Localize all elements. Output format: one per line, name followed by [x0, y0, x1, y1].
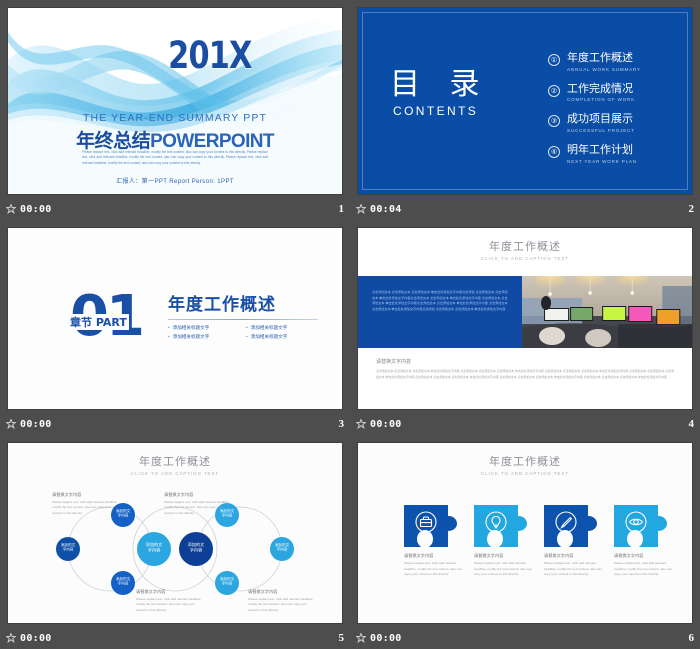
slide-6-header: 年度工作概述 CLICK TO ADD CAPTION TEXT: [358, 443, 692, 476]
slide-2-title-block: 目 录 CONTENTS: [390, 70, 490, 118]
puzzle-piece-4[interactable]: [614, 505, 658, 547]
puzzle-title-1: 请替换文字内容: [404, 553, 464, 559]
chapter-bullet-1: 添加相关标题文字: [168, 325, 240, 331]
svg-text:添加的文: 添加的文: [116, 576, 131, 581]
slide-transition-icon[interactable]: [6, 419, 16, 429]
svg-text:字内容: 字内容: [190, 547, 203, 554]
slide-cell-5[interactable]: 年度工作概述 CLICK TO ADD CAPTION TEXT 添加的文 字内…: [0, 435, 350, 649]
puzzle-body-2: Please replace text, click add relevant …: [474, 561, 534, 578]
slide-1-blurb: Please replace text, click add relevant …: [82, 150, 268, 166]
puzzle-piece-1[interactable]: [404, 505, 448, 547]
piece-knob: [510, 516, 527, 531]
slide-4-page-number: 4: [689, 418, 695, 430]
svg-text:字内容: 字内容: [222, 581, 233, 586]
slide-1-cn-title: 年终总结: [76, 130, 150, 152]
slide-4-photo[interactable]: 年度工作概述 CLICK TO ADD CAPTION TEXT 点击添加文本 …: [358, 228, 692, 409]
agenda-en-1: ANNUAL WORK SUMMARY: [567, 67, 641, 72]
slide-2-en-title: CONTENTS: [390, 104, 490, 118]
puzzle-col-2[interactable]: 请替换文字内容 Please replace text, click add r…: [474, 505, 534, 578]
slide-1-en-title: POWERPOINT: [150, 131, 274, 152]
slide-transition-icon[interactable]: [356, 204, 366, 214]
note-1-body: Please replace text, click add relevant …: [52, 500, 118, 516]
slide-6-cn-title: 年度工作概述: [358, 453, 692, 469]
puzzle-col-3[interactable]: 请替换文字内容 Please replace text, click add r…: [544, 505, 604, 578]
svg-text:字内容: 字内容: [63, 547, 74, 552]
slide-5-time: 00:00: [20, 633, 52, 644]
slide-cell-6[interactable]: 年度工作概述 CLICK TO ADD CAPTION TEXT: [350, 435, 700, 649]
note-1-title: 请替换文字内容: [52, 492, 118, 498]
note-4: 请替换文字内容 Please replace text, click add r…: [248, 589, 314, 613]
svg-text:添加的文: 添加的文: [61, 542, 76, 547]
slide-5-page-number: 5: [339, 632, 345, 644]
puzzle-caption-3: 请替换文字内容 Please replace text, click add r…: [544, 553, 604, 578]
agenda-item-1[interactable]: ① 年度工作概述 ANNUAL WORK SUMMARY: [548, 52, 641, 72]
svg-text:添加的文: 添加的文: [116, 508, 131, 513]
slide-1-en-subtitle: THE YEAR-END SUMMARY PPT: [8, 112, 342, 124]
slide-4-cn-title: 年度工作概述: [358, 238, 692, 254]
slide-transition-icon[interactable]: [6, 204, 16, 214]
puzzle-caption-4: 请替换文字内容 Please replace text, click add r…: [614, 553, 674, 578]
slide-3-page-number: 3: [339, 418, 345, 430]
chapter-ribbon-label: 章节 PART: [68, 314, 129, 330]
slide-2-page-number: 2: [689, 203, 695, 215]
piece-knob: [580, 516, 597, 531]
agenda-number-icon: ④: [548, 146, 560, 158]
agenda-text: 工作完成情况 COMPLETION OF WORK: [567, 83, 635, 103]
slide-4-band: 点击添加文本 点击添加文本 点击添加文本 单击此处添加文字内容点击添加 点击添加…: [358, 276, 692, 348]
chapter-heading: 年度工作概述: [168, 296, 318, 315]
slide-1-reporter: 汇报人：第一PPT Report Person: 1PPT: [8, 176, 342, 185]
puzzle-body-3: Please replace text, click add relevant …: [544, 561, 604, 578]
slide-1-title[interactable]: 201X THE YEAR-END SUMMARY PPT 年终总结POWERP…: [8, 8, 342, 194]
svg-text:字内容: 字内容: [277, 547, 288, 552]
svg-text:添加的文: 添加的文: [275, 542, 290, 547]
puzzle-row: 请替换文字内容 Please replace text, click add r…: [404, 505, 674, 578]
note-4-body: Please replace text, click add relevant …: [248, 597, 314, 613]
note-3-title: 请替换文字内容: [136, 589, 202, 595]
agenda-cn-4: 明年工作计划: [567, 144, 637, 157]
puzzle-body-1: Please replace text, click add relevant …: [404, 561, 464, 578]
briefcase-icon: [414, 510, 438, 534]
slide-1-title-line: 年终总结POWERPOINT: [8, 126, 342, 153]
note-2: 请替换文字内容 Please replace text, click add r…: [164, 492, 230, 516]
agenda-cn-1: 年度工作概述: [567, 52, 641, 65]
slide-6-page-number: 6: [689, 632, 695, 644]
agenda-cn-2: 工作完成情况: [567, 83, 635, 96]
slide-4-caption-title: 请替换文字内容: [376, 358, 674, 365]
agenda-item-4[interactable]: ④ 明年工作计划 NEXT YEAR WORK PLAN: [548, 144, 641, 164]
slide-transition-icon[interactable]: [356, 633, 366, 643]
slide-6-footer: 00:00 6: [350, 627, 700, 649]
slide-3-footer: 00:00 3: [0, 413, 350, 435]
puzzle-body-4: Please replace text, click add relevant …: [614, 561, 674, 578]
piece-knob: [650, 516, 667, 531]
svg-text:字内容: 字内容: [118, 581, 129, 586]
slide-3-chapter[interactable]: 01 章节 PART 年度工作概述 添加相关标题文字 添加相关标题文字 添加相关…: [8, 228, 342, 409]
divider: [168, 319, 318, 320]
agenda-en-3: SUCCESSFUL PROJECT: [567, 128, 635, 133]
puzzle-title-2: 请替换文字内容: [474, 553, 534, 559]
slide-4-caption-body: 点击添加文本 点击添加文本 点击添加文本 单击此处添加文字内容 点击添加文本 点…: [376, 369, 674, 380]
slide-cell-3[interactable]: 01 章节 PART 年度工作概述 添加相关标题文字 添加相关标题文字 添加相关…: [0, 220, 350, 435]
slide-thumbnail-grid: 201X THE YEAR-END SUMMARY PPT 年终总结POWERP…: [0, 0, 700, 649]
agenda-number-icon: ②: [548, 85, 560, 97]
svg-text:添加的文: 添加的文: [220, 576, 235, 581]
slide-4-header: 年度工作概述 CLICK TO ADD CAPTION TEXT: [358, 228, 692, 261]
agenda-en-4: NEXT YEAR WORK PLAN: [567, 159, 637, 164]
slide-5-circles[interactable]: 年度工作概述 CLICK TO ADD CAPTION TEXT 添加的文 字内…: [8, 443, 342, 623]
puzzle-title-3: 请替换文字内容: [544, 553, 604, 559]
puzzle-piece-3[interactable]: [544, 505, 588, 547]
puzzle-caption-2: 请替换文字内容 Please replace text, click add r…: [474, 553, 534, 578]
agenda-number-icon: ①: [548, 54, 560, 66]
slide-transition-icon[interactable]: [6, 633, 16, 643]
slide-1-footer: 00:00 1: [0, 198, 350, 220]
slide-2-agenda-list: ① 年度工作概述 ANNUAL WORK SUMMARY ② 工作完成情况 CO…: [548, 52, 641, 175]
piece-knob: [440, 516, 457, 531]
slide-3-time: 00:00: [20, 419, 52, 430]
agenda-en-2: COMPLETION OF WORK: [567, 97, 635, 102]
chapter-number-block: 01 章节 PART: [70, 290, 142, 343]
slide-1-page-number: 1: [339, 203, 345, 215]
slide-4-caption: 请替换文字内容 点击添加文本 点击添加文本 点击添加文本 单击此处添加文字内容 …: [376, 358, 674, 380]
agenda-item-2[interactable]: ② 工作完成情况 COMPLETION OF WORK: [548, 83, 641, 103]
chapter-heading-block: 年度工作概述 添加相关标题文字 添加相关标题文字 添加相关标题文字 添加相关标题…: [168, 296, 318, 340]
svg-text:字内容: 字内容: [118, 513, 129, 518]
chapter-bullet-3: 添加相关标题文字: [168, 334, 240, 340]
chapter-bullet-2: 添加相关标题文字: [246, 325, 318, 331]
slide-6-en-title: CLICK TO ADD CAPTION TEXT: [358, 471, 692, 476]
slide-transition-icon[interactable]: [356, 419, 366, 429]
eye-icon: [624, 510, 648, 534]
note-1: 请替换文字内容 Please replace text, click add r…: [52, 492, 118, 516]
slide-6-time: 00:00: [370, 633, 402, 644]
note-4-title: 请替换文字内容: [248, 589, 314, 595]
note-2-body: Please replace text, click add relevant …: [164, 500, 230, 516]
note-2-title: 请替换文字内容: [164, 492, 230, 498]
puzzle-title-4: 请替换文字内容: [614, 553, 674, 559]
slide-2-time: 00:04: [370, 204, 402, 215]
lightbulb-icon: [484, 510, 508, 534]
slide-2-cn-title: 目 录: [390, 70, 490, 100]
agenda-number-icon: ③: [548, 115, 560, 127]
agenda-text: 明年工作计划 NEXT YEAR WORK PLAN: [567, 144, 637, 164]
agenda-text: 成功项目展示 SUCCESSFUL PROJECT: [567, 113, 635, 133]
slide-4-footer: 00:00 4: [350, 413, 700, 435]
agenda-item-3[interactable]: ③ 成功项目展示 SUCCESSFUL PROJECT: [548, 113, 641, 133]
slide-2-footer: 00:04 2: [350, 198, 700, 220]
office-photo-graphic: [522, 276, 692, 348]
year-wrap: 201X: [98, 34, 322, 77]
slide-cell-2[interactable]: 目 录 CONTENTS ① 年度工作概述 ANNUAL WORK SUMMAR…: [350, 0, 700, 220]
slide-5-footer: 00:00 5: [0, 627, 350, 649]
chapter-bullets: 添加相关标题文字 添加相关标题文字 添加相关标题文字 添加相关标题文字: [168, 325, 318, 340]
agenda-cn-3: 成功项目展示: [567, 113, 635, 126]
chapter-bullet-4: 添加相关标题文字: [246, 334, 318, 340]
puzzle-col-4[interactable]: 请替换文字内容 Please replace text, click add r…: [614, 505, 674, 578]
slide-1-year: 201X: [168, 34, 251, 77]
svg-text:字内容: 字内容: [148, 547, 161, 554]
agenda-text: 年度工作概述 ANNUAL WORK SUMMARY: [567, 52, 641, 72]
slide-4-panel-text: 点击添加文本 点击添加文本 点击添加文本 单击此处添加文字内容点击添加 点击添加…: [358, 276, 522, 348]
office-photo: [522, 276, 692, 348]
slide-4-time: 00:00: [370, 419, 402, 430]
puzzle-col-1[interactable]: 请替换文字内容 Please replace text, click add r…: [404, 505, 464, 578]
puzzle-piece-2[interactable]: [474, 505, 518, 547]
slide-4-en-title: CLICK TO ADD CAPTION TEXT: [358, 256, 692, 261]
puzzle-caption-1: 请替换文字内容 Please replace text, click add r…: [404, 553, 464, 578]
slide-cell-4[interactable]: 年度工作概述 CLICK TO ADD CAPTION TEXT 点击添加文本 …: [350, 220, 700, 435]
slide-1-time: 00:00: [20, 204, 52, 215]
slide-2-contents[interactable]: 目 录 CONTENTS ① 年度工作概述 ANNUAL WORK SUMMAR…: [358, 8, 692, 194]
slide-5-cn-title: 年度工作概述: [8, 453, 342, 469]
slide-6-puzzle[interactable]: 年度工作概述 CLICK TO ADD CAPTION TEXT: [358, 443, 692, 623]
note-3-body: Please replace text, click add relevant …: [136, 597, 202, 613]
note-3: 请替换文字内容 Please replace text, click add r…: [136, 589, 202, 613]
pen-icon: [554, 510, 578, 534]
slide-cell-1[interactable]: 201X THE YEAR-END SUMMARY PPT 年终总结POWERP…: [0, 0, 350, 220]
